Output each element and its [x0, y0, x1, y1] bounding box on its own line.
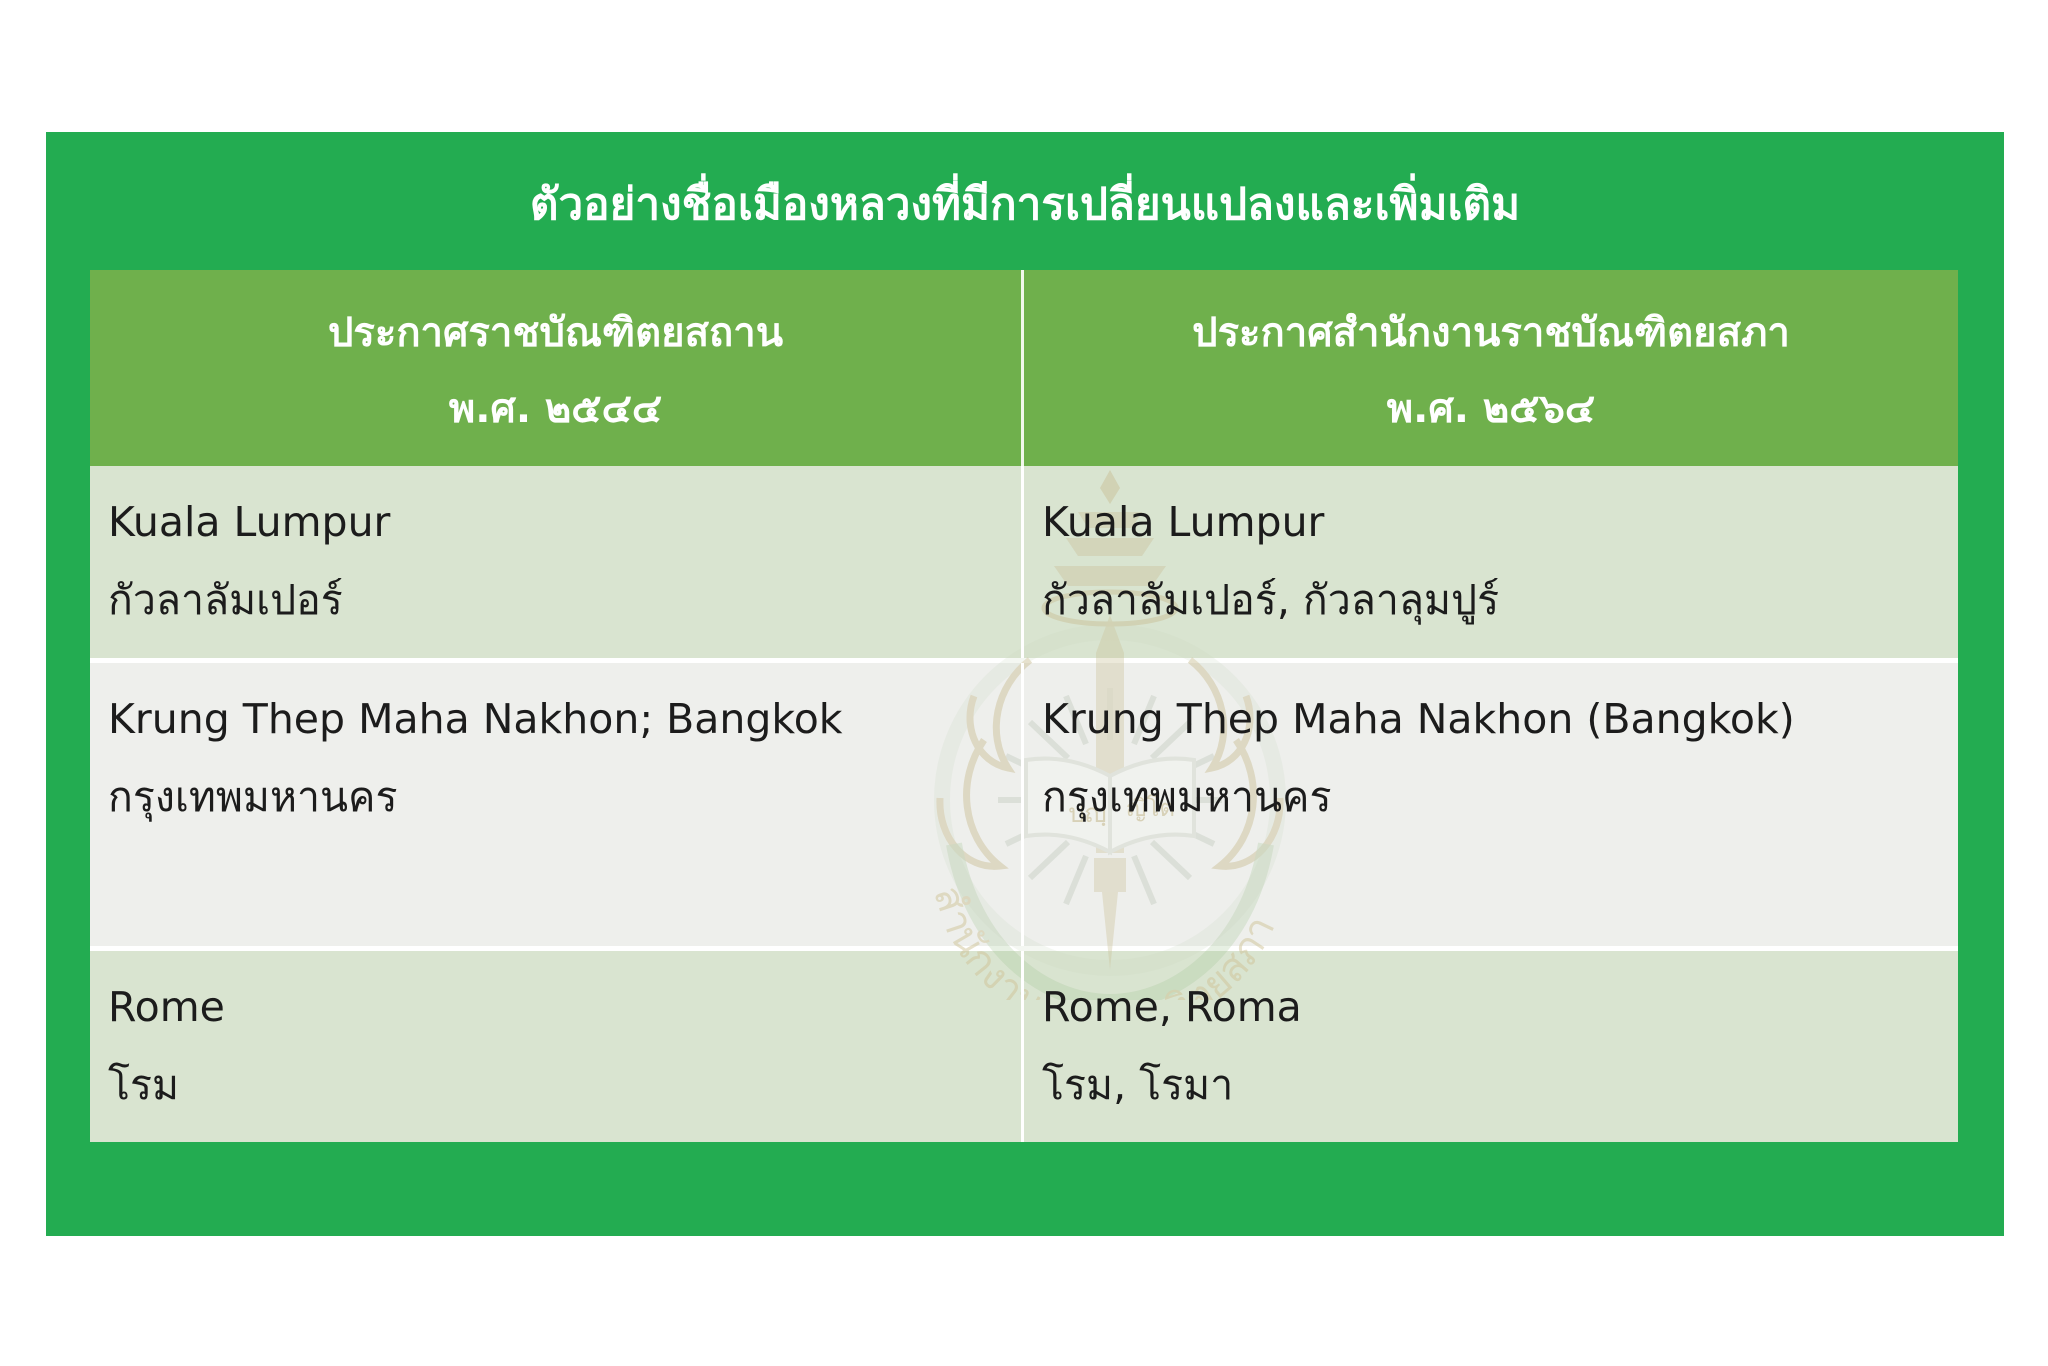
city-name-romanized: Krung Thep Maha Nakhon (Bangkok) [1042, 689, 1958, 749]
table-cell-right: Rome, Roma โรม, โรมา [1024, 951, 1958, 1142]
city-name-romanized: Kuala Lumpur [108, 492, 1021, 552]
column-header-1-title: ประกาศราชบัณฑิตยสถาน [90, 302, 1021, 364]
table-row: Rome โรม Rome, Roma โรม, โรมา [90, 946, 1958, 1142]
table-cell-right: Krung Thep Maha Nakhon (Bangkok) กรุงเทพ… [1024, 663, 1958, 946]
page-title: ตัวอย่างชื่อเมืองหลวงที่มีการเปลี่ยนแปลง… [46, 175, 2004, 235]
comparison-table: ปญฺ ญิโต สำนักงานราชบัณฑิตยสภา ประกาศราช… [90, 270, 1958, 1166]
table-cell-left: Krung Thep Maha Nakhon; Bangkok กรุงเทพม… [90, 663, 1024, 946]
city-name-thai: กรุงเทพมหานคร [108, 767, 1021, 827]
city-name-thai: กรุงเทพมหานคร [1042, 767, 1958, 827]
slide-canvas: ตัวอย่างชื่อเมืองหลวงที่มีการเปลี่ยนแปลง… [0, 0, 2048, 1366]
table-row: Kuala Lumpur กัวลาลัมเปอร์ Kuala Lumpur … [90, 466, 1958, 658]
table-body: Kuala Lumpur กัวลาลัมเปอร์ Kuala Lumpur … [90, 466, 1958, 1142]
city-name-thai: กัวลาลัมเปอร์ [108, 570, 1021, 630]
table-header-row: ประกาศราชบัณฑิตยสถาน พ.ศ. ๒๕๔๔ ประกาศสำน… [90, 270, 1958, 466]
city-name-romanized: Rome [108, 977, 1021, 1037]
city-name-romanized: Krung Thep Maha Nakhon; Bangkok [108, 689, 1021, 749]
column-header-2-title: ประกาศสำนักงานราชบัณฑิตยสภา [1024, 302, 1958, 364]
city-name-thai: กัวลาลัมเปอร์, กัวลาลุมปูร์ [1042, 570, 1958, 630]
column-header-1-year: พ.ศ. ๒๕๔๔ [90, 378, 1021, 440]
city-name-romanized: Rome, Roma [1042, 977, 1958, 1037]
city-name-thai: โรม [108, 1055, 1021, 1115]
table-cell-left: Kuala Lumpur กัวลาลัมเปอร์ [90, 466, 1024, 658]
column-header-2: ประกาศสำนักงานราชบัณฑิตยสภา พ.ศ. ๒๕๖๔ [1024, 270, 1958, 466]
column-header-1: ประกาศราชบัณฑิตยสถาน พ.ศ. ๒๕๔๔ [90, 270, 1024, 466]
table-cell-left: Rome โรม [90, 951, 1024, 1142]
table-cell-right: Kuala Lumpur กัวลาลัมเปอร์, กัวลาลุมปูร์ [1024, 466, 1958, 658]
column-header-2-year: พ.ศ. ๒๕๖๔ [1024, 378, 1958, 440]
city-name-romanized: Kuala Lumpur [1042, 492, 1958, 552]
city-name-thai: โรม, โรมา [1042, 1055, 1958, 1115]
table-row: Krung Thep Maha Nakhon; Bangkok กรุงเทพม… [90, 658, 1958, 946]
